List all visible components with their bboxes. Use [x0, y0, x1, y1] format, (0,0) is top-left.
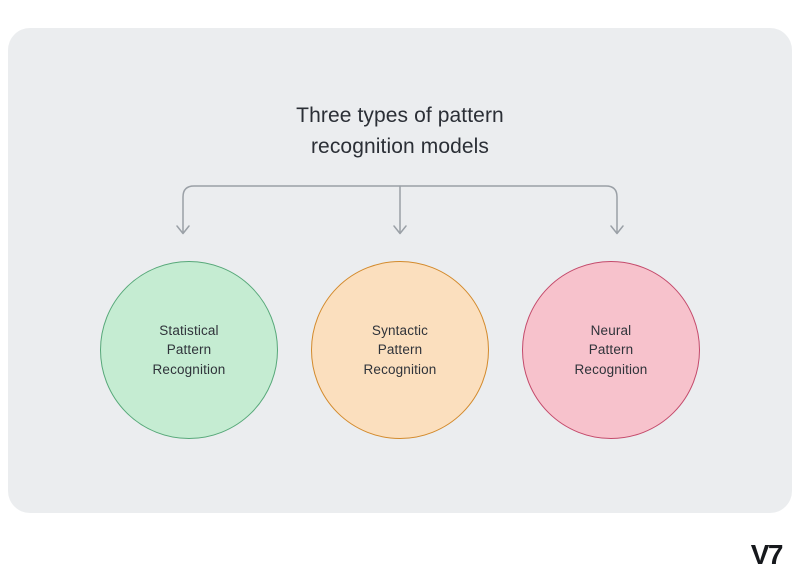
diagram-canvas: Three types of pattern recognition model…: [0, 0, 800, 585]
node-syntactic-pattern-recognition[interactable]: Syntactic Pattern Recognition: [311, 261, 489, 439]
node-label: Statistical Pattern Recognition: [153, 321, 226, 380]
node-statistical-pattern-recognition[interactable]: Statistical Pattern Recognition: [100, 261, 278, 439]
page-title: Three types of pattern recognition model…: [0, 100, 800, 162]
node-label: Syntactic Pattern Recognition: [364, 321, 437, 380]
node-label: Neural Pattern Recognition: [575, 321, 648, 380]
v7-logo: V7: [751, 541, 782, 569]
node-neural-pattern-recognition[interactable]: Neural Pattern Recognition: [522, 261, 700, 439]
